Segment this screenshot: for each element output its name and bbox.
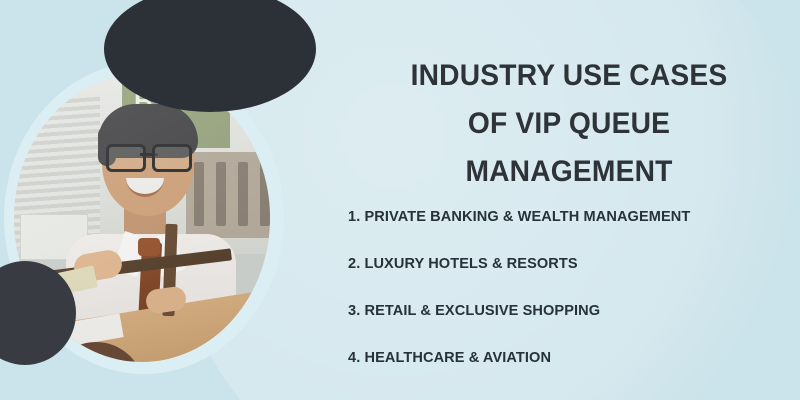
list-item: 1. PRIVATE BANKING & WEALTH MANAGEMENT xyxy=(348,208,786,226)
slide-canvas: BA INDUSTRY USE CASES OF xyxy=(0,0,800,400)
list-item: 2. LUXURY HOTELS & RESORTS xyxy=(348,255,786,273)
list-item: 3. RETAIL & EXCLUSIVE SHOPPING xyxy=(348,302,786,320)
use-cases-list: 1. PRIVATE BANKING & WEALTH MANAGEMENT 2… xyxy=(348,208,800,367)
title-line-2: OF VIP QUEUE xyxy=(352,100,786,148)
page-title: INDUSTRY USE CASES OF VIP QUEUE MANAGEME… xyxy=(352,52,786,196)
content-panel: INDUSTRY USE CASES OF VIP QUEUE MANAGEME… xyxy=(338,0,800,400)
list-item: 4. HEALTHCARE & AVIATION xyxy=(348,349,786,367)
title-line-1: INDUSTRY USE CASES xyxy=(352,52,786,100)
title-line-3: MANAGEMENT xyxy=(352,148,786,196)
